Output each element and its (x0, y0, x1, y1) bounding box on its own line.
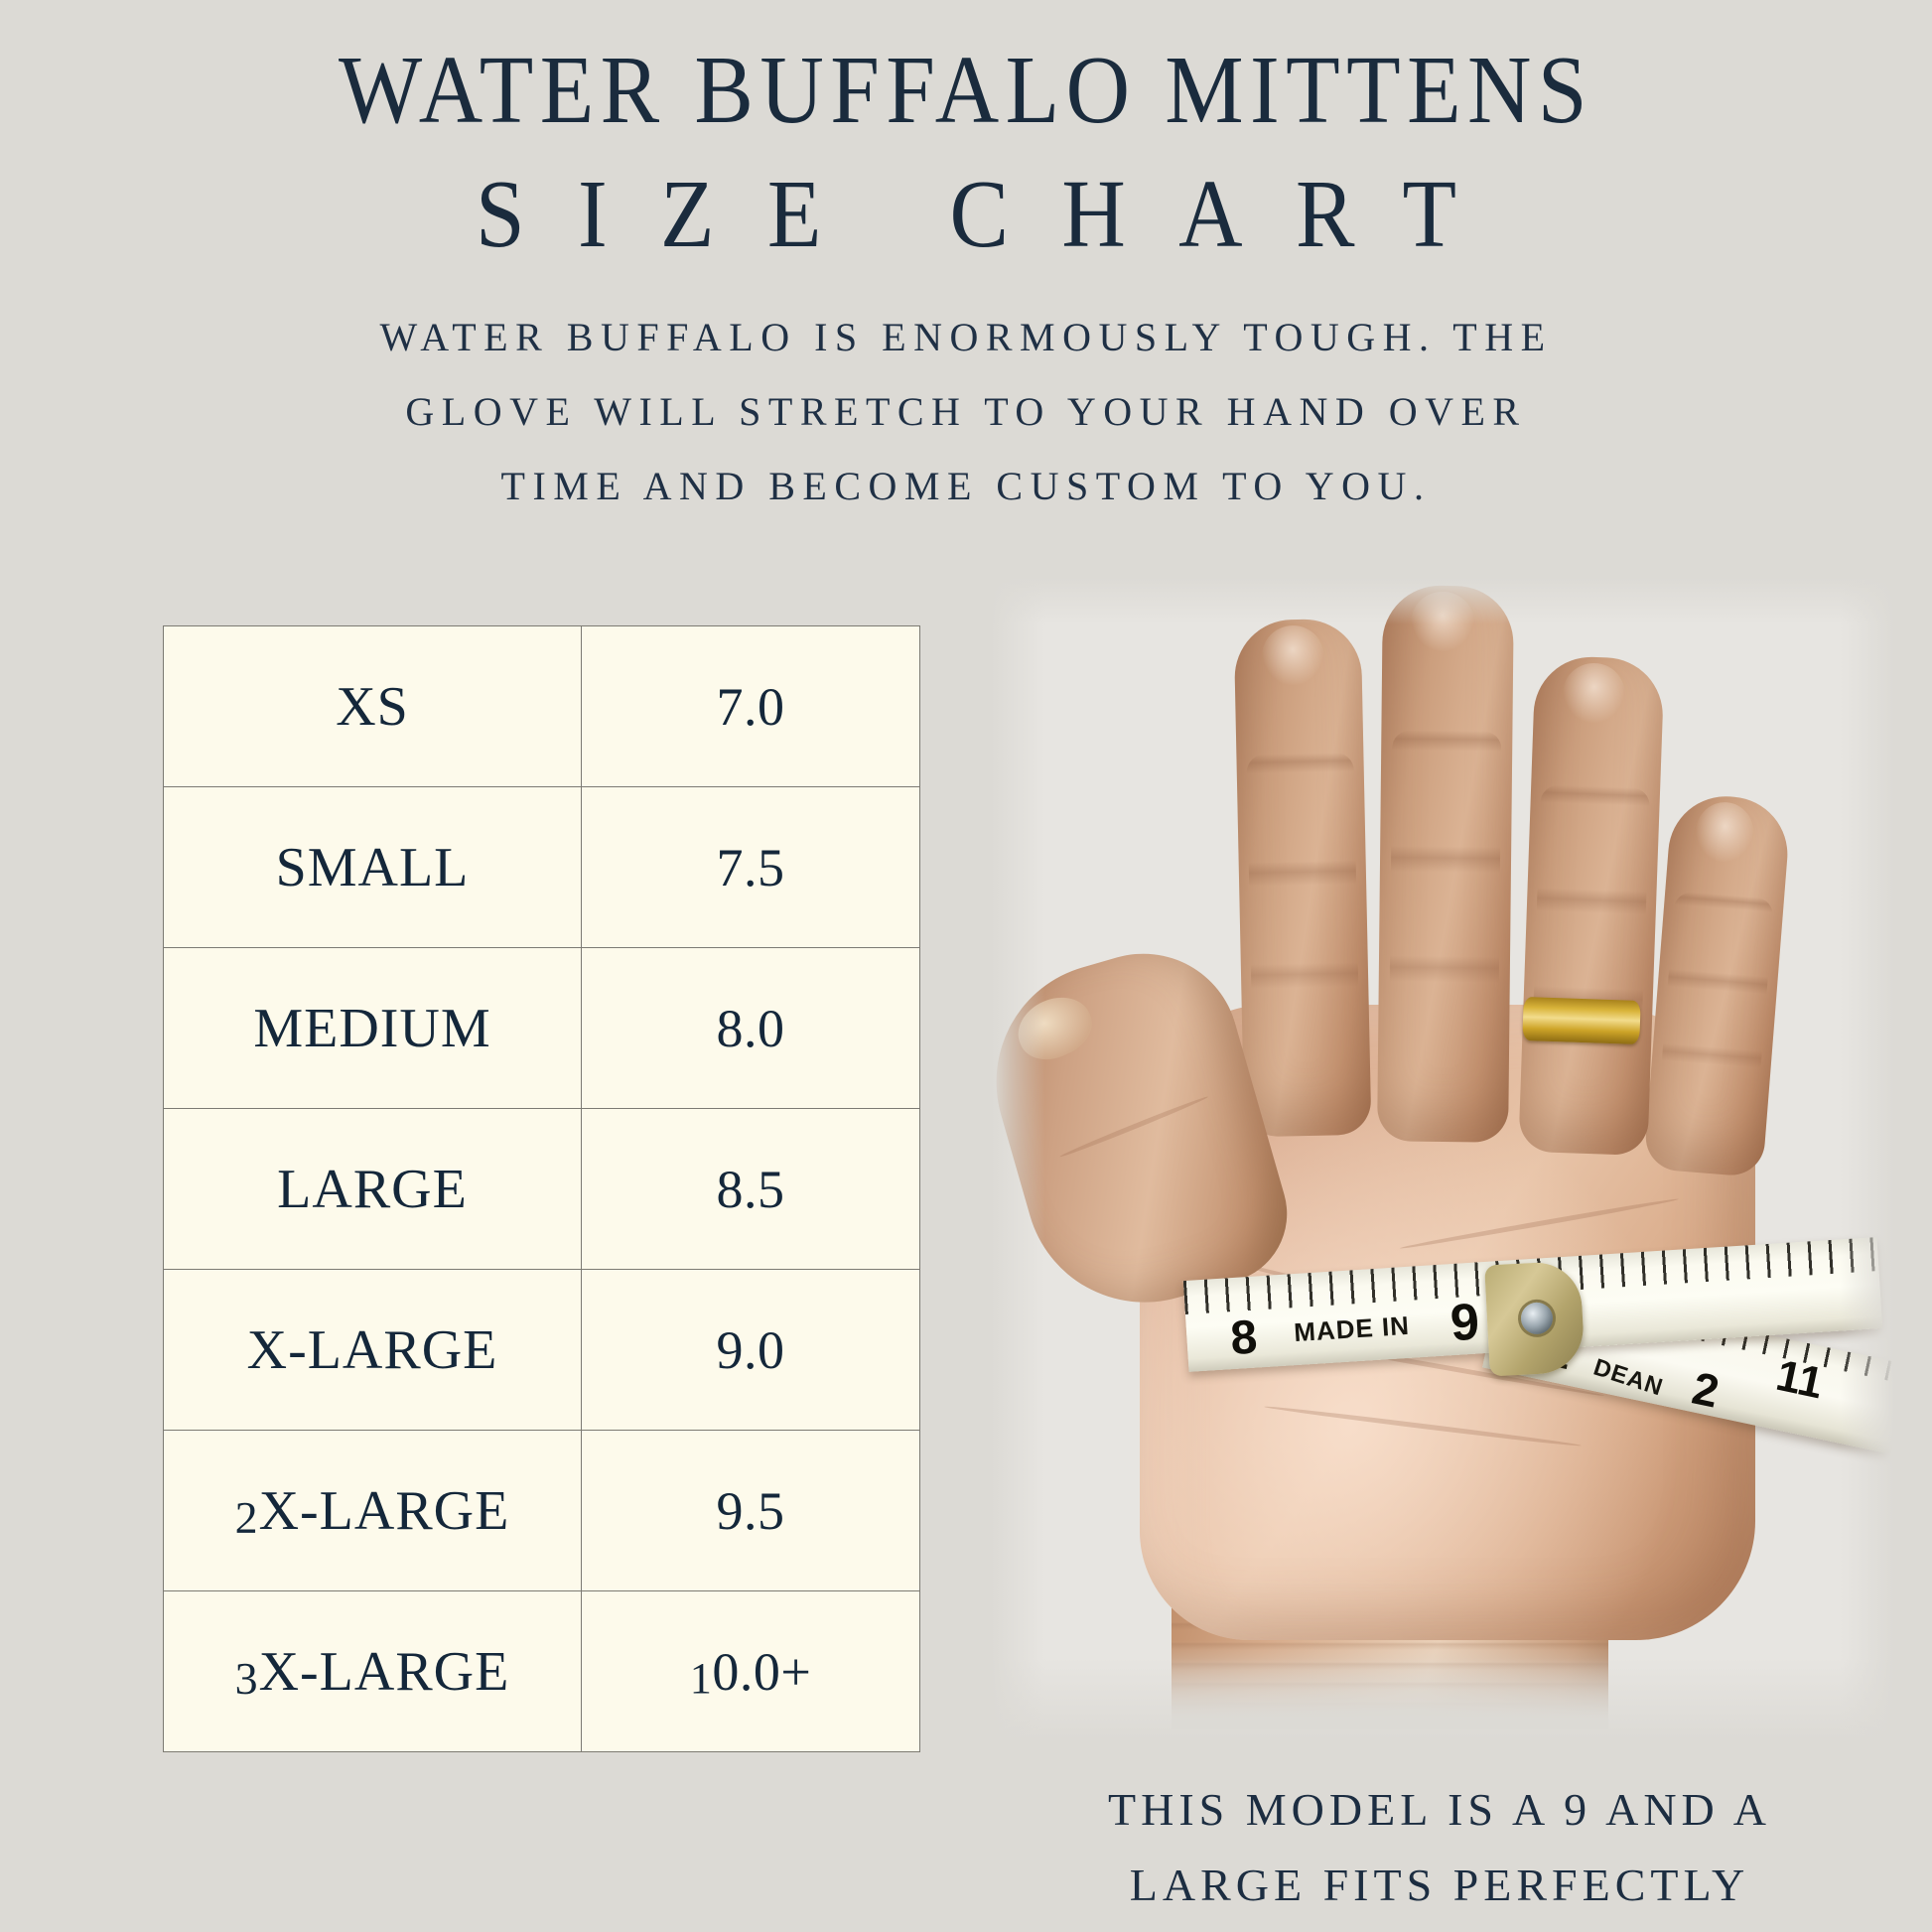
size-label-cell: LARGE (164, 1109, 582, 1270)
fingertip-highlight (1411, 592, 1474, 652)
size-value-cell: 8.0 (582, 948, 920, 1109)
subtitle-line-1: WATER BUFFALO IS ENORMOUSLY TOUGH. THE (0, 318, 1932, 357)
caption-line-2: LARGE FITS PERFECTLY (953, 1863, 1926, 1908)
size-label-cell: XS (164, 626, 582, 787)
header: WATER BUFFALO MITTENS SIZE CHART WATER B… (0, 0, 1932, 506)
hand-with-measuring-tape-photo: 1 DEAN 2 11 8 MADE IN 9 (991, 578, 1894, 1739)
table-row: LARGE 8.5 (164, 1109, 920, 1270)
size-value-cell: 9.5 (582, 1431, 920, 1591)
gold-wedding-ring (1522, 997, 1640, 1044)
size-value-cell: 8.5 (582, 1109, 920, 1270)
size-value-cell: 7.5 (582, 787, 920, 948)
table-row: XS 7.0 (164, 626, 920, 787)
index-finger (1234, 619, 1372, 1138)
subtitle: WATER BUFFALO IS ENORMOUSLY TOUGH. THE G… (0, 318, 1932, 506)
page-title-line-2: SIZE CHART (77, 166, 1855, 262)
thumb-crease (1059, 1094, 1209, 1159)
table-row: MEDIUM 8.0 (164, 948, 920, 1109)
measuring-tape-clasp (1484, 1261, 1586, 1377)
table-row: X-LARGE 9.0 (164, 1270, 920, 1431)
palm-crease (1400, 1196, 1680, 1250)
middle-finger (1377, 585, 1514, 1142)
table-row: 3X-LARGE 10.0+ (164, 1591, 920, 1752)
size-label-cell: 3X-LARGE (164, 1591, 582, 1752)
fingertip-highlight (1562, 662, 1625, 724)
subtitle-line-3: TIME AND BECOME CUSTOM TO YOU. (0, 467, 1932, 506)
tape-made-in-label: MADE IN (1293, 1312, 1410, 1345)
size-value-cell: 9.0 (582, 1270, 920, 1431)
size-value-cell: 10.0+ (582, 1591, 920, 1752)
clasp-rivet (1520, 1302, 1554, 1335)
size-label-cell: SMALL (164, 787, 582, 948)
size-label-cell: MEDIUM (164, 948, 582, 1109)
palm-crease (1264, 1405, 1583, 1449)
fingertip-highlight (1262, 625, 1324, 686)
caption-line-1: THIS MODEL IS A 9 AND A (953, 1787, 1926, 1833)
tape-number-2: 2 (1689, 1364, 1724, 1414)
ring-finger (1518, 655, 1664, 1156)
size-label-cell: X-LARGE (164, 1270, 582, 1431)
table-row: 2X-LARGE 9.5 (164, 1431, 920, 1591)
tape-number-9: 9 (1449, 1296, 1480, 1349)
size-value-cell: 7.0 (582, 626, 920, 787)
table-row: SMALL 7.5 (164, 787, 920, 948)
size-chart-table: XS 7.0 SMALL 7.5 MEDIUM 8.0 LARGE 8.5 X-… (163, 625, 920, 1752)
tape-number-8: 8 (1229, 1314, 1259, 1364)
subtitle-line-2: GLOVE WILL STRETCH TO YOUR HAND OVER (0, 392, 1932, 432)
size-label-cell: 2X-LARGE (164, 1431, 582, 1591)
page-title-line-1: WATER BUFFALO MITTENS (77, 42, 1855, 138)
photo-caption: THIS MODEL IS A 9 AND A LARGE FITS PERFE… (953, 1787, 1926, 1908)
fingertip-highlight (1694, 800, 1755, 864)
tape-number-11: 11 (1772, 1354, 1827, 1407)
